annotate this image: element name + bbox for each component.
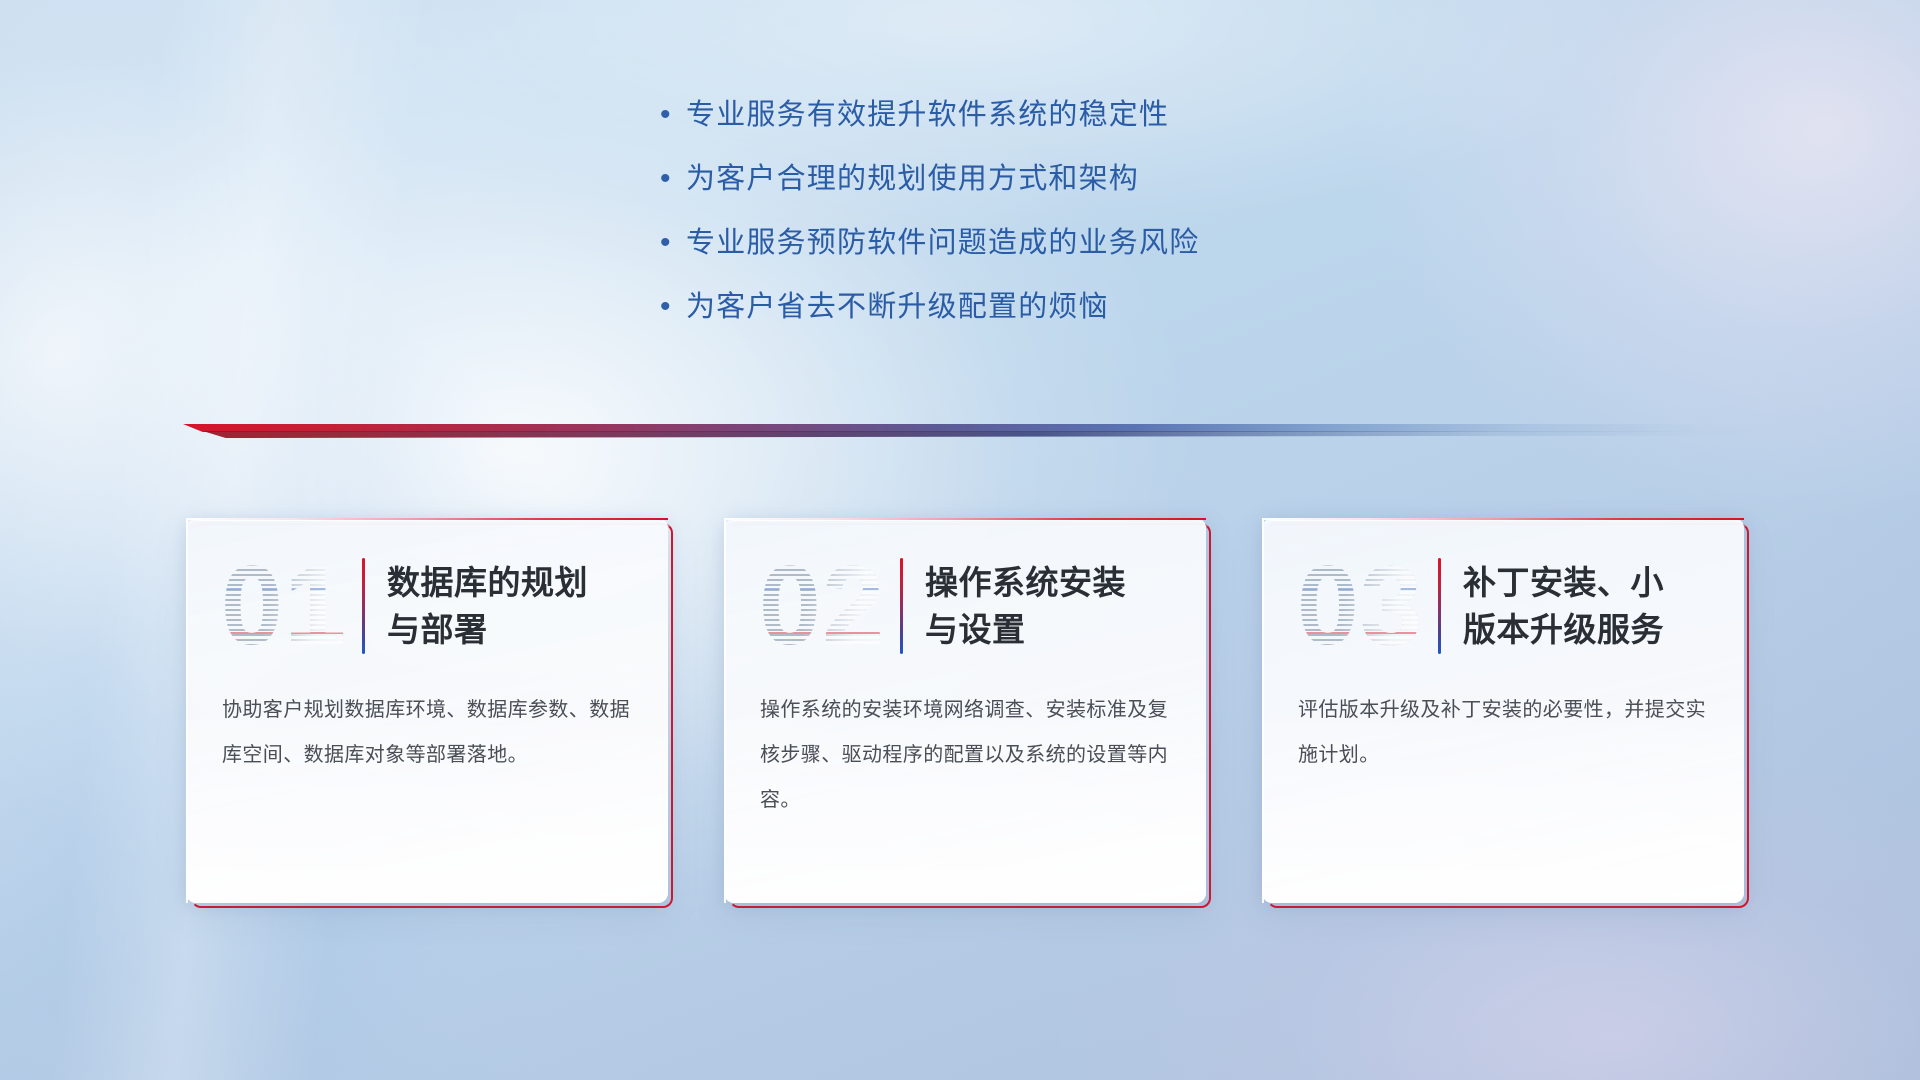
card-description: 操作系统的安装环境网络调查、安装标准及复核步骤、驱动程序的配置以及系统的设置等内…	[726, 670, 1206, 823]
card-number: 0303	[1286, 544, 1434, 668]
card-header: 0101 数据库的规划 与部署	[188, 520, 668, 670]
benefits-bullet-list: • 专业服务有效提升软件系统的稳定性 • 为客户合理的规划使用方式和架构 • 专…	[660, 96, 1420, 352]
card-number-accent-stripes: 03	[1286, 544, 1434, 668]
section-divider	[183, 424, 1823, 446]
card-title-accent-bar	[362, 558, 365, 654]
service-card-01[interactable]: 0101 数据库的规划 与部署 协助客户规划数据库环境、数据库参数、数据库空间、…	[186, 518, 668, 903]
card-number-accent-stripes: 02	[748, 544, 896, 668]
card-header: 0303 补丁安装、小 版本升级服务	[1264, 520, 1744, 670]
card-title: 数据库的规划 与部署	[387, 559, 588, 653]
card-surface: 0101 数据库的规划 与部署 协助客户规划数据库环境、数据库参数、数据库空间、…	[186, 518, 668, 903]
card-number: 0101	[210, 544, 358, 668]
bullet-dot-icon: •	[660, 96, 686, 134]
bullet-item-1: • 专业服务有效提升软件系统的稳定性	[660, 96, 1420, 160]
bullet-item-4: • 为客户省去不断升级配置的烦恼	[660, 288, 1420, 352]
card-description: 评估版本升级及补丁安装的必要性，并提交实施计划。	[1264, 670, 1744, 778]
card-number-accent-stripes: 01	[210, 544, 358, 668]
section-divider-shadow	[183, 431, 1823, 438]
slide-root: • 专业服务有效提升软件系统的稳定性 • 为客户合理的规划使用方式和架构 • 专…	[0, 0, 1920, 1080]
service-card-02[interactable]: 0202 操作系统安装 与设置 操作系统的安装环境网络调查、安装标准及复核步骤、…	[724, 518, 1206, 903]
section-divider-face	[183, 424, 1823, 432]
card-title-accent-bar	[900, 558, 903, 654]
bullet-item-label: 专业服务有效提升软件系统的稳定性	[686, 96, 1169, 134]
bullet-dot-icon: •	[660, 160, 686, 198]
card-surface: 0303 补丁安装、小 版本升级服务 评估版本升级及补丁安装的必要性，并提交实施…	[1262, 518, 1744, 903]
card-title: 补丁安装、小 版本升级服务	[1463, 559, 1664, 653]
card-description: 协助客户规划数据库环境、数据库参数、数据库空间、数据库对象等部署落地。	[188, 670, 668, 778]
card-number: 0202	[748, 544, 896, 668]
bullet-item-2: • 为客户合理的规划使用方式和架构	[660, 160, 1420, 224]
card-surface: 0202 操作系统安装 与设置 操作系统的安装环境网络调查、安装标准及复核步骤、…	[724, 518, 1206, 903]
bullet-item-label: 为客户合理的规划使用方式和架构	[686, 160, 1139, 198]
bullet-item-label: 专业服务预防软件问题造成的业务风险	[686, 224, 1199, 262]
card-title-accent-bar	[1438, 558, 1441, 654]
card-title: 操作系统安装 与设置	[925, 559, 1126, 653]
bullet-item-3: • 专业服务预防软件问题造成的业务风险	[660, 224, 1420, 288]
card-header: 0202 操作系统安装 与设置	[726, 520, 1206, 670]
bullet-dot-icon: •	[660, 224, 686, 262]
bullet-item-label: 为客户省去不断升级配置的烦恼	[686, 288, 1109, 326]
service-card-list: 0101 数据库的规划 与部署 协助客户规划数据库环境、数据库参数、数据库空间、…	[186, 518, 1746, 918]
service-card-03[interactable]: 0303 补丁安装、小 版本升级服务 评估版本升级及补丁安装的必要性，并提交实施…	[1262, 518, 1744, 903]
bullet-dot-icon: •	[660, 288, 686, 326]
